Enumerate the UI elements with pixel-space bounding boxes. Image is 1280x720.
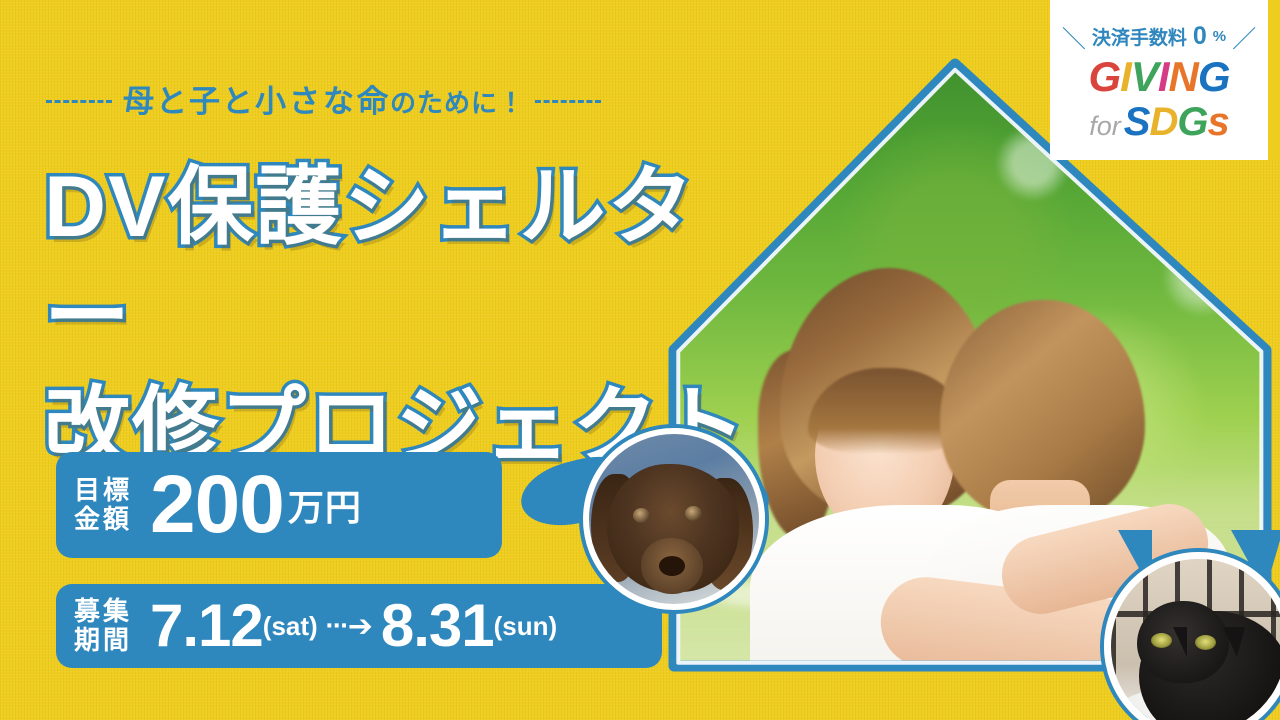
giving-letter-4: I [1158, 53, 1169, 100]
period-label-line-2: 期間 [74, 626, 132, 655]
goal-label: 目標 金額 [74, 476, 132, 534]
dash-left-decoration [46, 100, 112, 103]
arrow-head: ➔ [348, 609, 371, 644]
subtitle-char-1: 母 [122, 86, 156, 117]
period-start-weekday: (sat) [263, 611, 318, 642]
cat-photo [1104, 552, 1280, 720]
goal-label-line-2: 金額 [74, 505, 132, 534]
campaign-banner: 母と子と小さな命のために！ DV保護シェルター 改修プロジェクト 目標 金額 2… [0, 0, 1280, 720]
giving-letter-2: I [1120, 53, 1131, 100]
dog-photo-nose [659, 556, 685, 576]
period-end-date: 8.31 [381, 596, 494, 656]
subtitle-char-6: さ [288, 86, 322, 117]
subtitle-char-5: 小 [254, 86, 288, 117]
fee-slash-right: ／ [1232, 19, 1256, 54]
sdgs-letter-1: S [1124, 100, 1150, 144]
sdgs-letter-3: G [1177, 100, 1207, 144]
cat-photo-eye-right [1195, 635, 1216, 650]
subtitle-char-7: な [322, 86, 356, 117]
giving-wordmark: GIVING [1088, 56, 1229, 98]
goal-label-line-1: 目標 [74, 476, 132, 505]
subtitle-char-3: 子 [188, 86, 222, 117]
subtitle-text: 母と子と小さな命のために！ [122, 86, 525, 117]
cat-photo-ear-right [1223, 627, 1245, 657]
goal-amount-value: 200 [150, 464, 284, 546]
period-end-weekday: (sun) [494, 611, 558, 642]
cat-photo-eye-left [1151, 633, 1172, 648]
logo-right-edge-strip [1268, 0, 1280, 160]
period-start-date: 7.12 [150, 596, 263, 656]
fee-zero: 0 [1193, 22, 1207, 51]
sdgs-wordmark: for SDGs [1089, 102, 1228, 142]
fee-label: 決済手数料 [1092, 23, 1187, 50]
goal-amount-box: 目標 金額 200 万円 [56, 452, 502, 558]
sdgs-letter-2: D [1149, 100, 1177, 144]
subtitle-char-4: と [222, 84, 254, 119]
giving-letter-1: G [1088, 53, 1120, 100]
dog-photo-eye-left [633, 508, 650, 523]
subtitle-char-8: 命 [356, 86, 390, 117]
fee-badge: ＼ 決済手数料0% ／ [1062, 19, 1256, 54]
banner-subtitle: 母と子と小さな命のために！ [46, 78, 601, 124]
logo-card: ＼ 決済手数料0% ／ GIVING for SDGs [1050, 0, 1268, 160]
subtitle-char-2: と [156, 84, 188, 119]
arrow-dots: ⋯ [326, 613, 346, 639]
period-label: 募集 期間 [74, 597, 132, 655]
sdgs-letter-4: s [1207, 100, 1228, 144]
dog-photo-eye-right [685, 506, 702, 521]
giving-letter-3: V [1131, 53, 1158, 100]
fee-slash-left: ＼ [1062, 19, 1086, 54]
dash-right-decoration [535, 100, 601, 103]
dog-photo [583, 428, 765, 610]
title-line-1: DV保護シェルター [44, 159, 695, 365]
dog-photo-badge [520, 430, 770, 610]
goal-amount-unit: 万円 [288, 479, 362, 531]
giving-for-sdgs-logo: ＼ 決済手数料0% ／ GIVING for SDGs [1050, 0, 1280, 160]
giving-letter-6: G [1198, 53, 1230, 100]
sdgs-letters: SDGs [1124, 102, 1229, 142]
subtitle-tail: のために！ [390, 88, 525, 118]
fee-percent: % [1213, 28, 1226, 45]
for-text: for [1089, 113, 1121, 140]
cat-photo-badge [1090, 530, 1280, 720]
giving-letter-5: N [1169, 53, 1198, 100]
period-label-line-1: 募集 [74, 597, 132, 626]
arrow-right-icon: ⋯ ➔ [326, 609, 371, 644]
